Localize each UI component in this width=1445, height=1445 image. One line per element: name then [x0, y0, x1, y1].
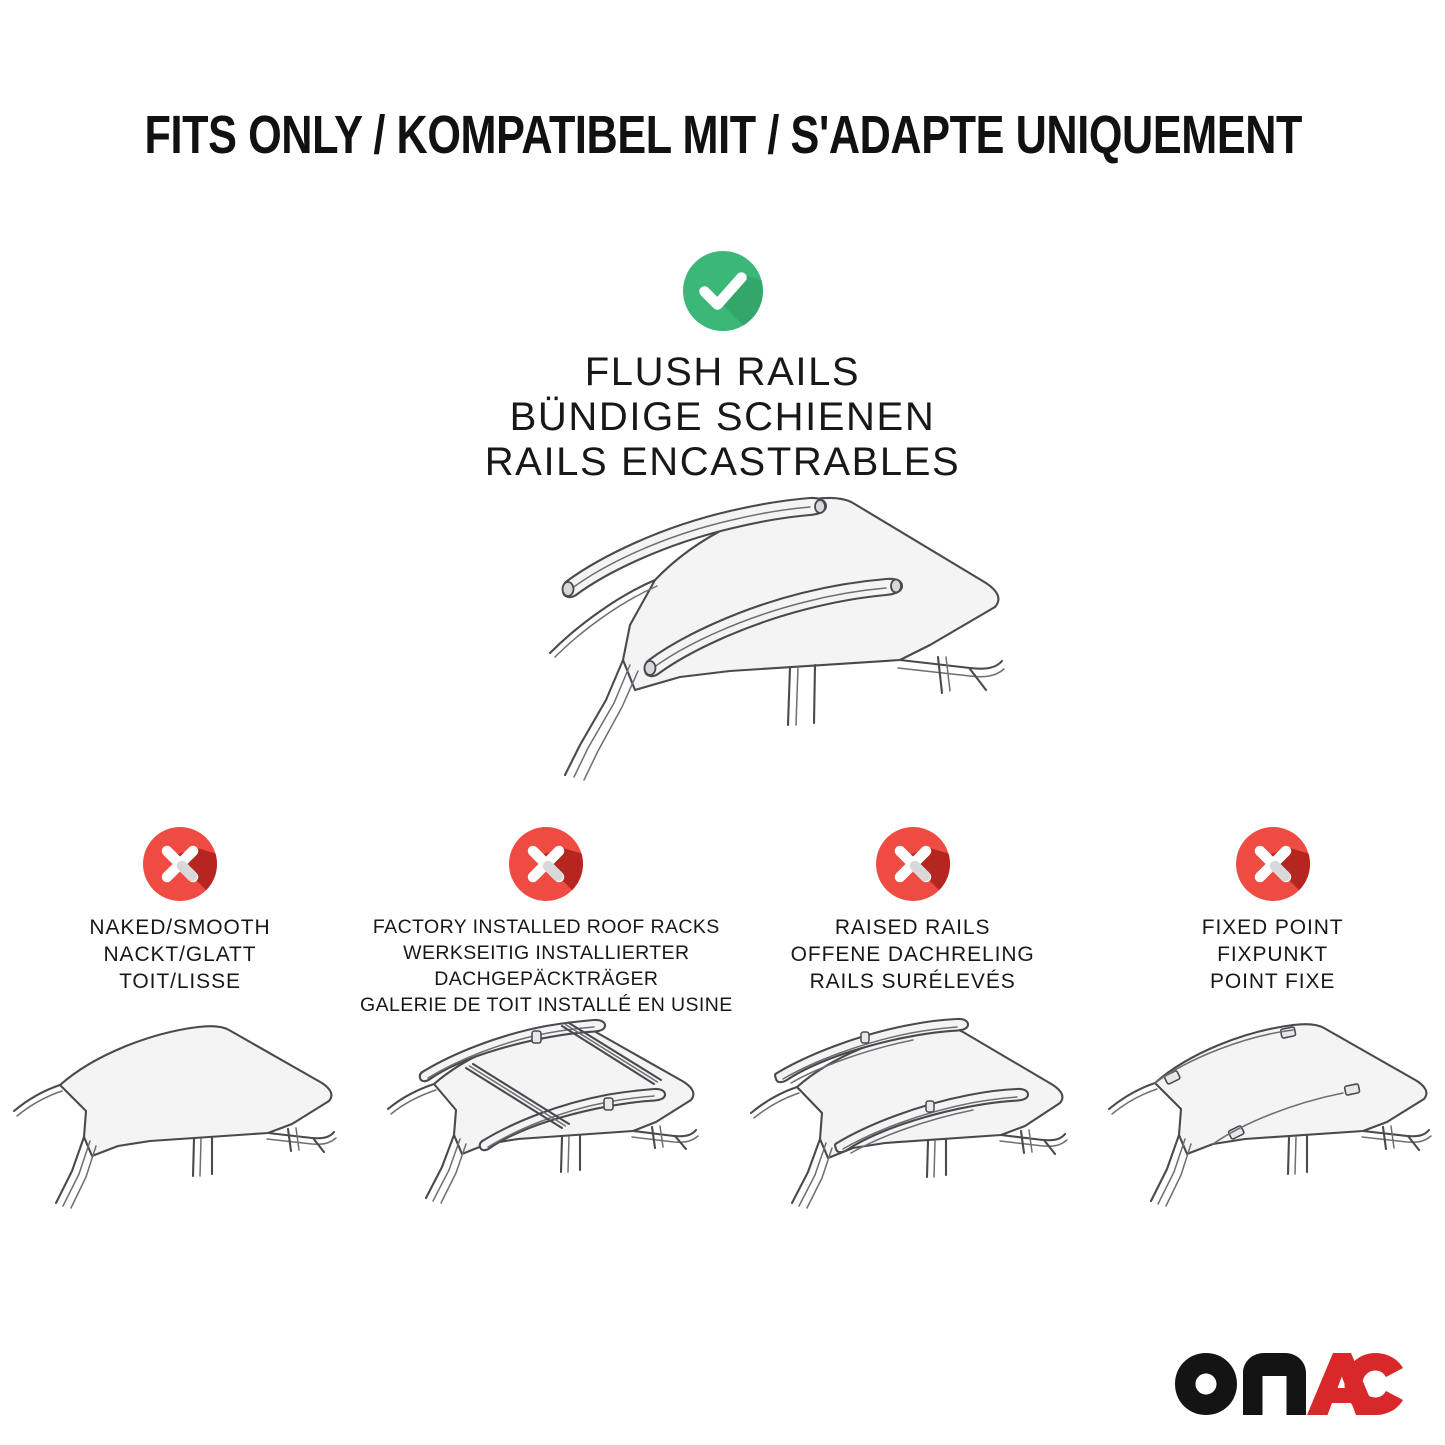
label-line: RAILS SURÉLEVÉS [791, 968, 1035, 995]
label-line: FIXPUNKT [1202, 941, 1344, 968]
compatible-heading: FLUSH RAILS BÜNDIGE SCHIENEN RAILS ENCAS… [0, 350, 1445, 485]
label-line: FIXED POINT [1202, 914, 1344, 941]
compatible-line-fr: RAILS ENCASTRABLES [0, 440, 1445, 485]
label-line: OFFENE DACHRELING [791, 941, 1035, 968]
incompatible-column-naked-smooth: NAKED/SMOOTH NACKT/GLATT TOIT/LISSE [0, 826, 360, 1221]
cross-circle-icon [508, 826, 584, 902]
label-line: NAKED/SMOOTH [89, 914, 270, 941]
label-line: POINT FIXE [1202, 968, 1344, 995]
compatible-line-en: FLUSH RAILS [0, 350, 1445, 395]
car-roof-fixed-point-illustration [1093, 1011, 1445, 1221]
cross-circle-icon [875, 826, 951, 902]
incompatible-label: FIXED POINT FIXPUNKT POINT FIXE [1202, 914, 1344, 995]
label-line: TOIT/LISSE [89, 968, 270, 995]
compatible-line-de: BÜNDIGE SCHIENEN [0, 395, 1445, 440]
incompatible-label: NAKED/SMOOTH NACKT/GLATT TOIT/LISSE [89, 914, 270, 995]
car-roof-raised-rails-illustration [733, 1011, 1093, 1221]
cross-circle-icon [142, 826, 218, 902]
label-line: FACTORY INSTALLED ROOF RACKS [360, 914, 733, 940]
compatible-section: FLUSH RAILS BÜNDIGE SCHIENEN RAILS ENCAS… [0, 250, 1445, 485]
label-line: NACKT/GLATT [89, 941, 270, 968]
incompatible-section: NAKED/SMOOTH NACKT/GLATT TOIT/LISSE [0, 826, 1445, 1221]
label-line: RAISED RAILS [791, 914, 1035, 941]
car-roof-flush-rails-illustration [430, 485, 1030, 785]
incompatible-label: RAISED RAILS OFFENE DACHRELING RAILS SUR… [791, 914, 1035, 995]
incompatible-column-fixed-point: FIXED POINT FIXPUNKT POINT FIXE [1093, 826, 1445, 1221]
incompatible-label: FACTORY INSTALLED ROOF RACKS WERKSEITIG … [360, 914, 733, 1018]
incompatible-column-raised-rails: RAISED RAILS OFFENE DACHRELING RAILS SUR… [733, 826, 1093, 1221]
label-line: WERKSEITIG INSTALLIERTER [360, 940, 733, 966]
label-line: DACHGEPÄCKTRÄGER [360, 966, 733, 992]
incompatible-column-factory-racks: FACTORY INSTALLED ROOF RACKS WERKSEITIG … [360, 826, 733, 1216]
car-roof-naked-smooth-illustration [0, 1011, 360, 1221]
car-roof-factory-racks-illustration [366, 1006, 726, 1216]
fitment-compatibility-infographic: FITS ONLY / KOMPATIBEL MIT / S'ADAPTE UN… [0, 0, 1445, 1445]
page-title: FITS ONLY / KOMPATIBEL MIT / S'ADAPTE UN… [145, 105, 1301, 165]
omac-logo [1173, 1351, 1405, 1417]
check-circle-icon [682, 250, 764, 332]
cross-circle-icon [1235, 826, 1311, 902]
